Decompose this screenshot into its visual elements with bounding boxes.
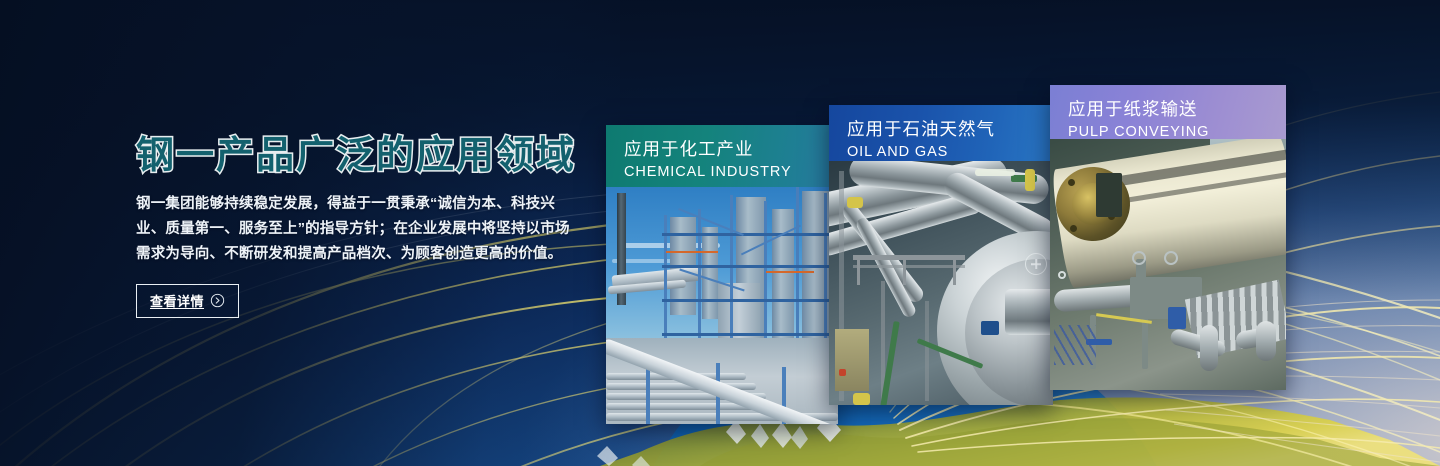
banner-copy: 钢一产品广泛的应用领域 钢一集团能够持续稳定发展，得益于一贯秉承“诚信为本、科技… (136, 134, 586, 318)
view-details-button[interactable]: 查看详情 (136, 284, 239, 318)
card-title-en: PULP CONVEYING (1068, 123, 1286, 142)
page-title: 钢一产品广泛的应用领域 (136, 134, 586, 178)
arrow-right-circle-icon (210, 293, 225, 308)
application-card-pulp[interactable]: 应用于纸浆输送 PULP CONVEYING (1050, 85, 1286, 390)
card-title-en: OIL AND GAS (847, 143, 1053, 162)
banner-description: 钢一集团能够持续稳定发展，得益于一贯秉承“诚信为本、科技兴业、质量第一、服务至上… (136, 192, 580, 267)
card-header-pulp: 应用于纸浆输送 PULP CONVEYING (1050, 85, 1286, 139)
application-card-oil-gas[interactable]: 应用于石油天然气 OIL AND GAS (829, 105, 1053, 405)
application-card-chemical[interactable]: 应用于化工产业 CHEMICAL INDUSTRY (606, 125, 838, 424)
card-header-oil-gas: 应用于石油天然气 OIL AND GAS (829, 105, 1053, 161)
hero-banner: 钢一产品广泛的应用领域 钢一集团能够持续稳定发展，得益于一贯秉承“诚信为本、科技… (0, 0, 1440, 466)
card-title-cn: 应用于石油天然气 (847, 118, 1053, 142)
view-details-label: 查看详情 (150, 291, 204, 310)
card-header-chemical: 应用于化工产业 CHEMICAL INDUSTRY (606, 125, 838, 187)
card-photo-oil-gas (829, 161, 1053, 405)
card-title-cn: 应用于纸浆输送 (1068, 98, 1286, 122)
card-photo-pulp (1050, 139, 1286, 390)
card-title-cn: 应用于化工产业 (624, 138, 838, 162)
zoom-plus-icon (1025, 253, 1047, 275)
card-photo-chemical (606, 187, 838, 424)
card-title-en: CHEMICAL INDUSTRY (624, 163, 838, 182)
